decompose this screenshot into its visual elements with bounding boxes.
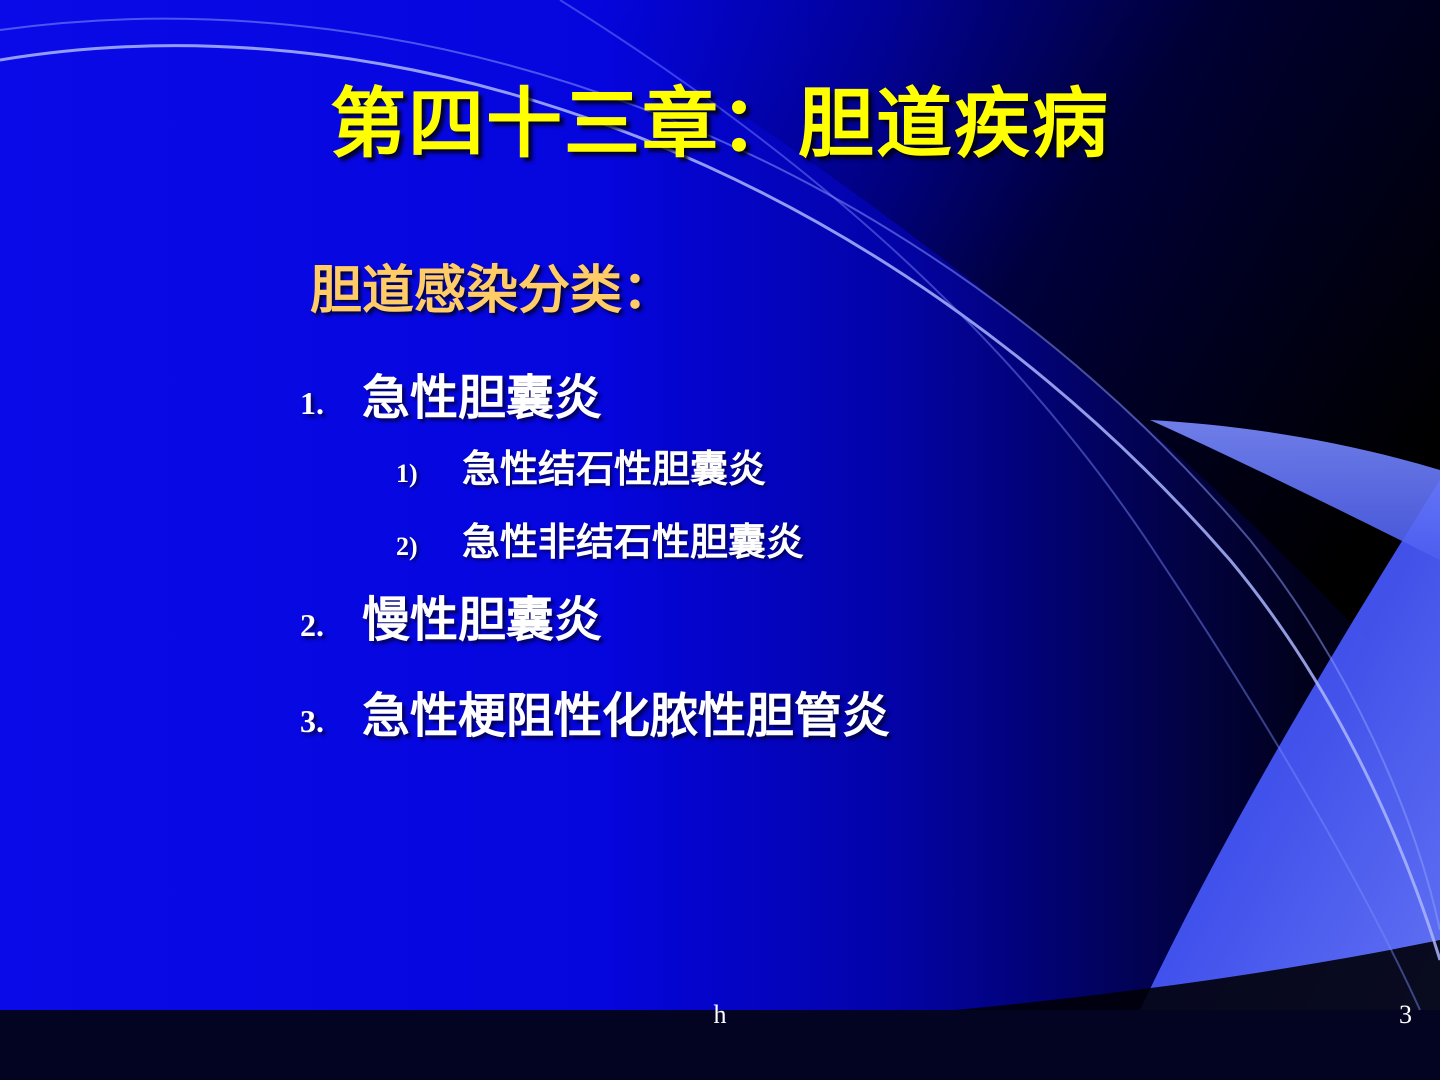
list-item-label: 急性结石性胆囊炎 [462,438,766,493]
bullet-list: 1. 急性胆囊炎 1) 急性结石性胆囊炎 2) 急性非结石性胆囊炎 2. 慢性胆… [300,358,1360,756]
section-subtitle: 胆道感染分类： [310,248,674,323]
slide-canvas: 第四十三章：胆道疾病 胆道感染分类： 1. 急性胆囊炎 1) 急性结石性胆囊炎 … [0,0,1440,1080]
sub-bullet-list: 1) 急性结石性胆囊炎 2) 急性非结石性胆囊炎 [396,438,1360,566]
list-marker: 1) [396,459,462,489]
list-item-label: 慢性胆囊炎 [362,580,602,650]
list-marker: 3. [300,703,362,740]
list-marker: 2. [300,607,362,644]
list-item: 1) 急性结石性胆囊炎 [396,438,1360,493]
page-number: 3 [1399,1000,1412,1030]
list-marker: 1. [300,385,362,422]
footer-text: h [0,1000,1440,1030]
page-title: 第四十三章：胆道疾病 [0,62,1440,172]
list-item-label: 急性非结石性胆囊炎 [462,511,804,566]
slide-content: 第四十三章：胆道疾病 胆道感染分类： 1. 急性胆囊炎 1) 急性结石性胆囊炎 … [0,0,1440,1080]
list-item: 3. 急性梗阻性化脓性胆管炎 [300,676,1360,746]
list-item: 2) 急性非结石性胆囊炎 [396,511,1360,566]
list-item-label: 急性梗阻性化脓性胆管炎 [362,676,890,746]
list-item: 2. 慢性胆囊炎 [300,580,1360,650]
list-item: 1. 急性胆囊炎 [300,358,1360,428]
list-item-label: 急性胆囊炎 [362,358,602,428]
list-marker: 2) [396,532,462,562]
